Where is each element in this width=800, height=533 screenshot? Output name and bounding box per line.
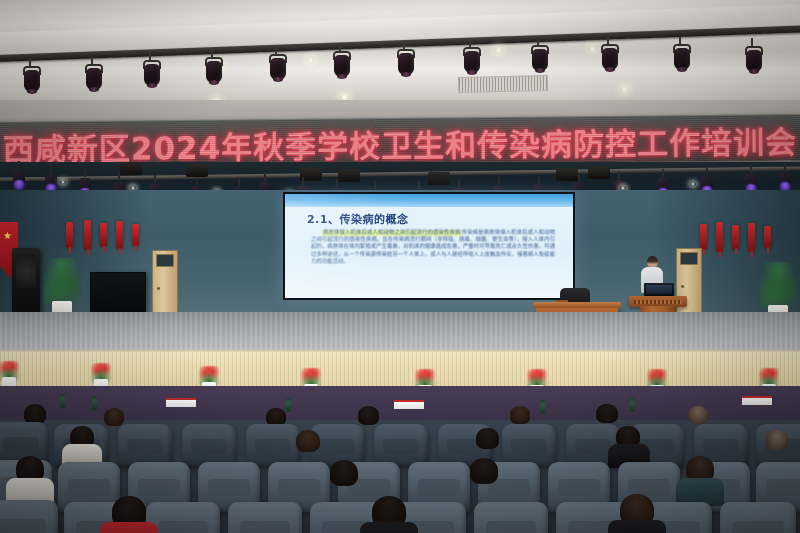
- downlight-icon: [494, 47, 503, 53]
- purple-stage-light: [744, 170, 758, 192]
- red-hanging-ornament: [764, 226, 771, 248]
- water-bottle: [60, 394, 65, 408]
- auditorium-photo: 西咸新区2024年秋季学校卫生和传染病防控工作培训会 ★: [0, 0, 800, 533]
- water-bottle: [540, 400, 545, 414]
- stage-light-fixture: [744, 38, 764, 72]
- water-bottle: [630, 398, 635, 412]
- red-hanging-ornament: [66, 222, 73, 248]
- red-hanging-ornament: [700, 224, 707, 250]
- attendee-head: [766, 430, 788, 450]
- name-card: [742, 396, 772, 405]
- red-hanging-ornament: [748, 223, 755, 252]
- door-knob-icon[interactable]: [157, 287, 160, 290]
- truss-equipment-box: [428, 172, 450, 185]
- pa-speaker-box: [12, 248, 40, 318]
- door-transom: [156, 254, 174, 267]
- stage-light-fixture: [332, 43, 352, 77]
- truss-spotlight-icon: [60, 180, 66, 184]
- stage-light-fixture: [530, 37, 550, 71]
- attendee-head: [688, 406, 708, 424]
- stage-light-fixture: [22, 58, 42, 92]
- water-bottle: [92, 396, 97, 410]
- slide-header-bar: [285, 194, 573, 207]
- stage-light-fixture: [84, 56, 104, 90]
- red-hanging-ornament: [116, 221, 123, 249]
- stage-light-fixture: [142, 52, 162, 86]
- stage-light-fixture: [268, 46, 288, 80]
- wall-display-panel: [90, 272, 146, 314]
- attendee-head: [24, 404, 46, 424]
- truss-equipment-box: [588, 166, 610, 179]
- red-hanging-ornament: [84, 220, 91, 250]
- attendee-shoulders: [100, 522, 158, 533]
- led-banner-text: 西咸新区2024年秋季学校卫生和传染病防控工作培训会: [0, 117, 800, 168]
- name-card: [166, 398, 196, 407]
- purple-stage-light: [44, 170, 58, 192]
- slide-title: 2.1、传染病的概念: [307, 211, 409, 227]
- red-hanging-ornament: [716, 222, 723, 252]
- star-icon: ★: [3, 232, 12, 242]
- attendee-head: [104, 408, 124, 426]
- audience-area: [0, 386, 800, 533]
- seat: [474, 502, 548, 533]
- attendee-head: [296, 430, 320, 452]
- projection-screen: 2.1、传染病的概念 病原体侵入机体后或人和动物之间引起流行的感染性疾病传染病是…: [283, 192, 575, 300]
- stage-light-fixture: [396, 41, 416, 75]
- seat: [228, 502, 302, 533]
- attendee-head: [510, 406, 530, 424]
- purple-stage-light: [778, 168, 792, 190]
- truss-equipment-box: [120, 162, 142, 175]
- stage-light-fixture: [600, 36, 620, 70]
- water-bottle: [286, 398, 291, 412]
- seat: [0, 500, 58, 533]
- red-hanging-ornament: [732, 225, 739, 249]
- truss-spotlight-icon: [690, 182, 696, 186]
- stage-light-fixture: [204, 49, 224, 83]
- side-door[interactable]: [152, 250, 178, 316]
- seat: [720, 502, 796, 533]
- downlight-icon: [306, 57, 315, 63]
- slide-highlighted-phrase: 病原体侵入机体后或人和动物之间引起流行的感染性疾病: [322, 230, 462, 236]
- attendee-head: [476, 428, 499, 449]
- name-card: [394, 400, 424, 409]
- downlight-icon: [588, 46, 597, 52]
- stage-light-fixture: [462, 39, 482, 73]
- potted-plant: [44, 258, 80, 318]
- attendee-head: [596, 404, 618, 423]
- air-vent: [458, 75, 548, 93]
- purple-stage-light: [12, 166, 26, 188]
- truss-equipment-box: [338, 169, 360, 182]
- red-hanging-ornament: [100, 223, 107, 247]
- door-transom: [680, 252, 698, 265]
- downlight-icon: [620, 86, 629, 92]
- door-knob-icon[interactable]: [681, 285, 684, 288]
- attendee-head: [470, 458, 498, 484]
- red-hanging-ornament: [132, 224, 139, 246]
- attendee-shoulders: [608, 520, 666, 533]
- slide-body-text: 病原体侵入机体后或人和动物之间引起流行的感染性疾病传染病是病原体侵入机体后或人和…: [311, 230, 555, 266]
- ceiling: [0, 0, 800, 112]
- truss-equipment-box: [186, 164, 208, 177]
- presentation-slide: 2.1、传染病的概念 病原体侵入机体后或人和动物之间引起流行的感染性疾病传染病是…: [285, 194, 573, 298]
- attendee-head: [358, 406, 379, 425]
- led-banner: 西咸新区2024年秋季学校卫生和传染病防控工作培训会: [0, 114, 800, 168]
- attendee-shoulders: [360, 522, 418, 533]
- attendee-head: [330, 460, 358, 486]
- stage-light-fixture: [672, 36, 692, 70]
